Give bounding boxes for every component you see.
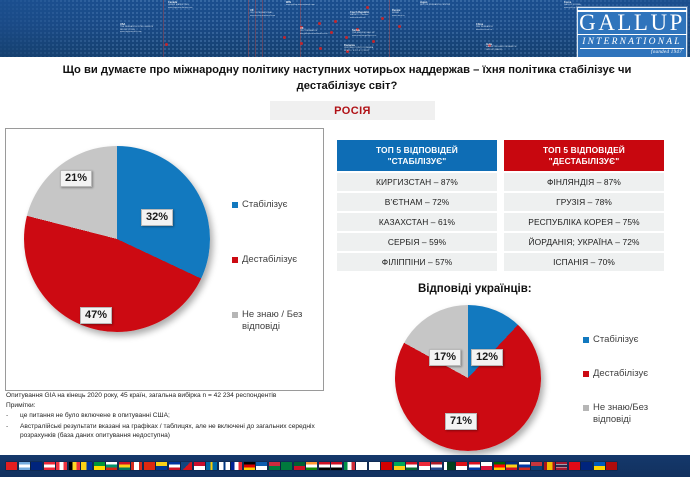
flag-icon	[294, 462, 305, 470]
banner-caption: IndiaMARKETING AND RESEARCHGROUP (MARG)	[486, 44, 516, 51]
flag-icon	[6, 462, 17, 470]
map-pin	[318, 22, 321, 25]
flag-icon	[231, 462, 242, 470]
flag-icon	[531, 462, 542, 470]
ukraine-chart-legend: Стабілізує Дестабілізує Не знаю/Без відп…	[583, 334, 683, 426]
legend-label-dontknow: Не знаю / Без відповіді	[242, 309, 318, 333]
flag-icon	[331, 462, 342, 470]
flag-icon	[356, 462, 367, 470]
logo-gallup-text: GALLUP	[577, 10, 687, 35]
flag-icon	[544, 462, 555, 470]
flag-icon	[406, 462, 417, 470]
flag-icon	[594, 462, 605, 470]
table-row: РЕСПУБЛІКА КОРЕЯ – 75%	[504, 213, 664, 231]
header-banner: CanadaLEGER MARKETINGwww.legermarketing.…	[0, 0, 690, 57]
map-pin	[381, 17, 384, 20]
flag-icon	[381, 462, 392, 470]
legend-swatch-gray-icon	[583, 405, 589, 411]
bullet-dash-icon: -	[6, 422, 20, 441]
flag-icon	[419, 462, 430, 470]
flag-icon	[581, 462, 592, 470]
legend-item-dontknow: Не знаю / Без відповіді	[232, 309, 318, 333]
flag-icon	[219, 462, 230, 470]
flag-icon	[519, 462, 530, 470]
footnotes: Опитування GIA на кінець 2020 року, 45 к…	[6, 391, 346, 441]
table-stabilize: ТОП 5 ВІДПОВІДЕЙ "СТАБІЛІЗУЄ" КИРГИЗСТАН…	[337, 140, 497, 271]
banner-line	[262, 0, 263, 57]
legend-item-stabilize: Стабілізує	[232, 199, 318, 211]
table-destabilize-header-line1: ТОП 5 ВІДПОВІДЕЙ	[508, 145, 660, 156]
flag-icon	[444, 462, 455, 470]
country-flags-strip	[0, 455, 690, 477]
flag-icon	[69, 462, 80, 470]
flag-icon	[469, 462, 480, 470]
flag-icon	[81, 462, 92, 470]
main-pie-label-stabilize: 32%	[141, 209, 173, 226]
flag-icon	[344, 462, 355, 470]
table-row: ФІНЛЯНДІЯ – 87%	[504, 173, 664, 191]
banner-caption: CanadaLEGER MARKETINGwww.legermarketing.…	[168, 2, 193, 9]
flag-icon	[194, 462, 205, 470]
map-pin	[366, 6, 369, 9]
banner-caption: RomaniaCENTRAL POINTS ROMANIASPIRO / S.P…	[344, 45, 373, 52]
banner-line	[389, 0, 390, 57]
table-row: ІСПАНІЯ – 70%	[504, 253, 664, 271]
banner-line	[163, 0, 164, 57]
banner-line	[248, 0, 249, 57]
flag-icon	[269, 462, 280, 470]
flag-icon	[31, 462, 42, 470]
footnote-sample: Опитування GIA на кінець 2020 року, 45 к…	[6, 391, 346, 401]
legend-label-destabilize: Дестабілізує	[593, 368, 648, 380]
flag-icon	[256, 462, 267, 470]
logo-founded-text: founded 1947	[651, 49, 682, 57]
legend-swatch-blue-icon	[583, 337, 589, 343]
banner-caption: SerbiaTNS MEDIUM GALLUPwww.mediumgallup.…	[352, 30, 376, 37]
logo-international-text: INTERNATIONAL	[580, 35, 684, 49]
banner-caption: RussiaROMIRwww.romir.ru	[392, 10, 405, 17]
table-stabilize-header-line1: ТОП 5 ВІДПОВІДЕЙ	[341, 145, 493, 156]
banner-caption: UKORC INTERNATIONALwww.orcinternational.…	[250, 10, 275, 17]
table-row: КАЗАХСТАН – 61%	[337, 213, 497, 231]
legend-label-stabilize: Стабілізує	[593, 334, 638, 346]
banner-caption: UKORC RESEARCHww.gallupinternational.co.…	[300, 28, 328, 35]
map-pin	[319, 47, 322, 50]
table-stabilize-header-line2: "СТАБІЛІЗУЄ"	[341, 156, 493, 167]
country-band: РОСІЯ	[270, 101, 435, 120]
footnote-notes-label: Примітки:	[6, 401, 346, 411]
map-pin	[398, 25, 401, 28]
legend-swatch-red-icon	[583, 371, 589, 377]
flag-icon	[569, 462, 580, 470]
legend-item-destabilize: Дестабілізує	[232, 254, 318, 266]
table-row: ГРУЗІЯ – 78%	[504, 193, 664, 211]
flag-icon	[119, 462, 130, 470]
flag-icon	[456, 462, 467, 470]
flag-icon	[206, 462, 217, 470]
map-pin	[165, 43, 168, 46]
legend-swatch-red-icon	[232, 257, 238, 263]
sub-chart-title: Відповіді українців:	[418, 283, 618, 295]
map-pin	[345, 36, 348, 39]
flag-icon	[281, 462, 292, 470]
flag-icon	[94, 462, 105, 470]
flag-icon	[394, 462, 405, 470]
map-pin	[372, 40, 375, 43]
banner-caption: USATHE RESEARCH INTELLIGENCEGROUP (TRIG)…	[120, 24, 153, 34]
table-destabilize: ТОП 5 ВІДПОВІДЕЙ "ДЕСТАБІЛІЗУЄ" ФІНЛЯНДІ…	[504, 140, 664, 271]
banner-caption: Czech RepublicMARECO / Medianwww.mareco.…	[350, 12, 369, 19]
flag-icon	[131, 462, 142, 470]
footnote-bullet-1-text: це питання не було включене в опитуванні…	[20, 411, 346, 421]
flag-icon	[44, 462, 55, 470]
map-pin	[300, 42, 303, 45]
legend-label-stabilize: Стабілізує	[242, 199, 287, 211]
main-pie-label-destabilize: 47%	[80, 307, 112, 324]
map-pin	[330, 31, 333, 34]
ukraine-pie-label-destabilize: 71%	[445, 413, 477, 430]
footnote-bullet-2: - Австралійські результати вказані на гр…	[6, 422, 346, 441]
table-row: ЙОРДАНІЯ; УКРАЇНА – 72%	[504, 233, 664, 251]
legend-item-dontknow: Не знаю/Без відповіді	[583, 402, 683, 426]
legend-label-dontknow: Не знаю/Без відповіді	[593, 402, 683, 426]
flag-icon	[181, 462, 192, 470]
country-label: РОСІЯ	[334, 105, 371, 117]
table-stabilize-header: ТОП 5 ВІДПОВІДЕЙ "СТАБІЛІЗУЄ"	[337, 140, 497, 171]
map-pin	[334, 20, 337, 23]
ukraine-pie-label-stabilize: 12%	[471, 349, 503, 366]
legend-label-destabilize: Дестабілізує	[242, 254, 297, 266]
table-row: СЕРБІЯ – 59%	[337, 233, 497, 251]
map-pin	[283, 36, 286, 39]
flag-icon	[606, 462, 617, 470]
flag-icon	[169, 462, 180, 470]
flag-icon	[106, 462, 117, 470]
main-chart-panel: 21% 32% 47% Стабілізує Дестабілізує Не з…	[5, 128, 324, 391]
table-row: КИРГИЗСТАН – 87%	[337, 173, 497, 191]
flag-icon	[431, 462, 442, 470]
flag-icon	[144, 462, 155, 470]
flag-icon	[19, 462, 30, 470]
table-row: ФІЛІППІНИ – 57%	[337, 253, 497, 271]
footnote-bullet-1: - це питання не було включене в опитуван…	[6, 411, 346, 421]
flag-icon	[319, 462, 330, 470]
banner-line	[255, 0, 256, 57]
flag-icon	[494, 462, 505, 470]
banner-caption: ChinaWIN RESEARCHwww.win.com.cn	[476, 24, 493, 31]
legend-item-stabilize: Стабілізує	[583, 334, 683, 346]
flag-icon	[56, 462, 67, 470]
flag-icon	[244, 462, 255, 470]
main-chart-legend: Стабілізує Дестабілізує Не знаю / Без ві…	[232, 199, 318, 333]
flag-icon	[481, 462, 492, 470]
main-pie-chart: 21% 32% 47%	[24, 146, 222, 344]
table-destabilize-header-line2: "ДЕСТАБІЛІЗУЄ"	[508, 156, 660, 167]
flag-icon	[156, 462, 167, 470]
footnote-bullet-2-text: Австралійські результати вказані на граф…	[20, 422, 346, 441]
legend-item-destabilize: Дестабілізує	[583, 368, 683, 380]
table-destabilize-header: ТОП 5 ВІДПОВІДЕЙ "ДЕСТАБІЛІЗУЄ"	[504, 140, 664, 171]
main-pie-label-dontknow: 21%	[60, 170, 92, 187]
bullet-dash-icon: -	[6, 411, 20, 421]
slide-root: CanadaLEGER MARKETINGwww.legermarketing.…	[0, 0, 690, 477]
gallup-international-logo: GALLUP INTERNATIONAL founded 1947	[577, 7, 687, 57]
banner-caption: WINwww.gallup-international.com	[286, 2, 315, 7]
flag-icon	[506, 462, 517, 470]
banner-caption: JapanNIPPON RESEARCH CENTER	[420, 2, 450, 7]
table-row: В’ЄТНАМ – 72%	[337, 193, 497, 211]
flag-icon	[369, 462, 380, 470]
flag-icon	[556, 462, 567, 470]
ukraine-pie-label-dontknow: 17%	[429, 349, 461, 366]
ukraine-pie-chart: 12% 17% 71%	[395, 305, 575, 455]
legend-swatch-gray-icon	[232, 312, 238, 318]
flag-icon	[306, 462, 317, 470]
main-pie-graphic	[24, 146, 210, 332]
legend-swatch-blue-icon	[232, 202, 238, 208]
question-title: Що ви думаєте про міжнародну політику на…	[58, 62, 636, 94]
